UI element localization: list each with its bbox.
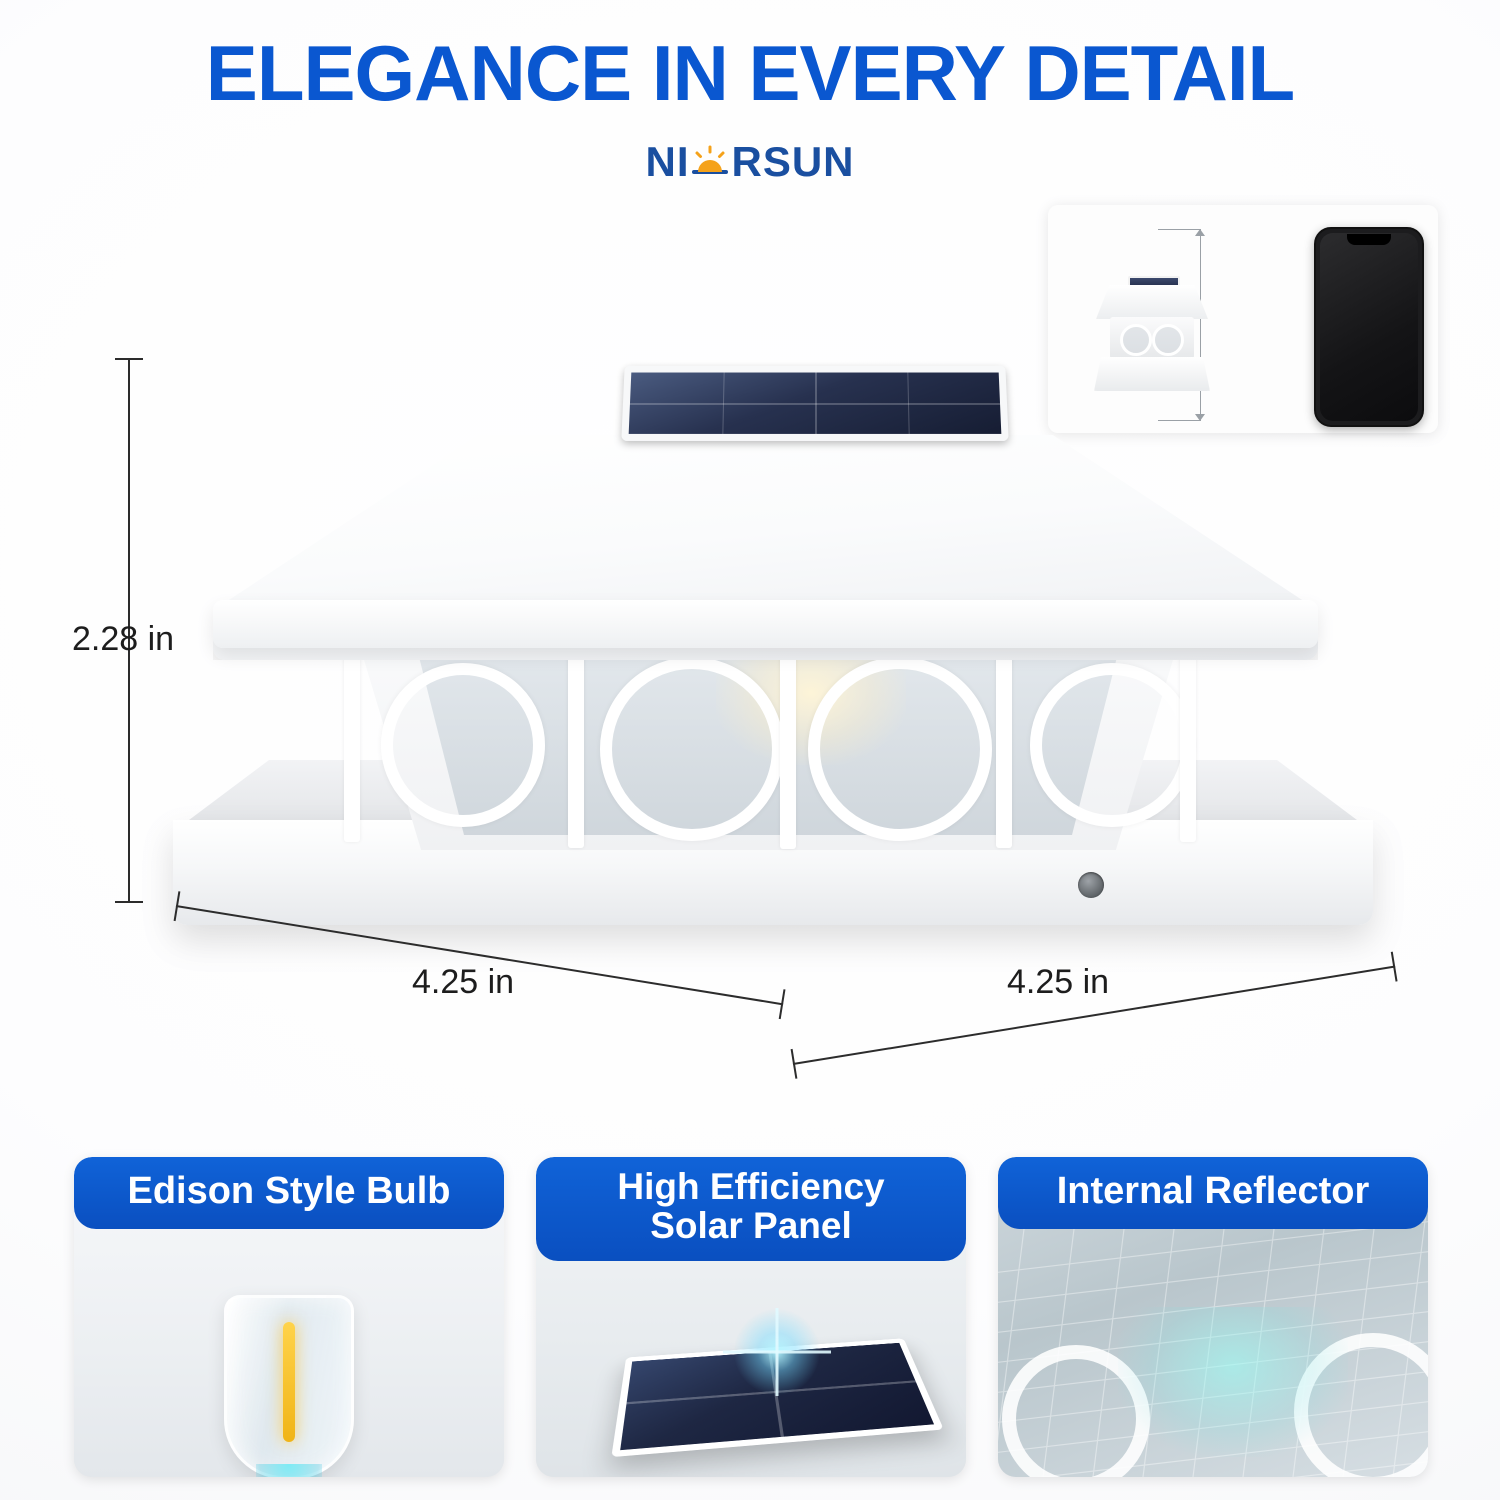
height-dimension-label: 2.28 in xyxy=(72,620,174,659)
cage-post-1 xyxy=(344,637,360,842)
page-title: ELEGANCE IN EVERY DETAIL xyxy=(0,34,1500,112)
bulb-base-glow xyxy=(256,1464,322,1477)
feature-title-line-2: Solar Panel xyxy=(650,1205,852,1246)
feature-card-solar-panel: High Efficiency Solar Panel xyxy=(536,1157,966,1477)
cage-post-2 xyxy=(568,633,584,848)
lantern-roof-edge xyxy=(213,600,1318,648)
brand-text-left: NI xyxy=(645,138,689,185)
cage-ring-center-left xyxy=(600,657,784,841)
brand-text-right: RSUN xyxy=(731,138,854,185)
mini-roof xyxy=(1096,285,1208,319)
feature-title-edison-bulb: Edison Style Bulb xyxy=(74,1157,504,1229)
feature-title-internal-reflector: Internal Reflector xyxy=(998,1157,1428,1229)
feature-title-solar-panel: High Efficiency Solar Panel xyxy=(536,1157,966,1261)
cage-ring-center-right xyxy=(808,657,992,841)
reflector-glow xyxy=(1118,1307,1348,1457)
cage-post-3 xyxy=(780,631,796,849)
solar-panel xyxy=(621,366,1008,441)
product-illustration xyxy=(168,345,1368,1085)
cage-post-4 xyxy=(996,633,1012,848)
product-infographic-page: ELEGANCE IN EVERY DETAIL NI RSUN xyxy=(0,0,1500,1500)
width-right-dimension-label: 4.25 in xyxy=(1007,963,1109,1002)
cage-post-5 xyxy=(1180,637,1196,842)
filament-icon xyxy=(283,1322,295,1442)
cage-ring-right xyxy=(1030,663,1194,827)
feature-card-internal-reflector: Internal Reflector xyxy=(998,1157,1428,1477)
feature-title-line-1: High Efficiency xyxy=(617,1166,884,1207)
sunrise-icon xyxy=(690,142,730,182)
cage-ring-left xyxy=(381,663,545,827)
sparkle-icon xyxy=(732,1307,822,1397)
feature-card-edison-bulb: Edison Style Bulb xyxy=(74,1157,504,1477)
bulb-glass xyxy=(224,1295,354,1477)
brand-logo: NI RSUN xyxy=(0,138,1500,186)
width-left-dimension-label: 4.25 in xyxy=(412,963,514,1002)
feature-cards: Edison Style Bulb High Efficiency Solar … xyxy=(74,1157,1429,1477)
screw-hole-icon xyxy=(1078,872,1104,898)
